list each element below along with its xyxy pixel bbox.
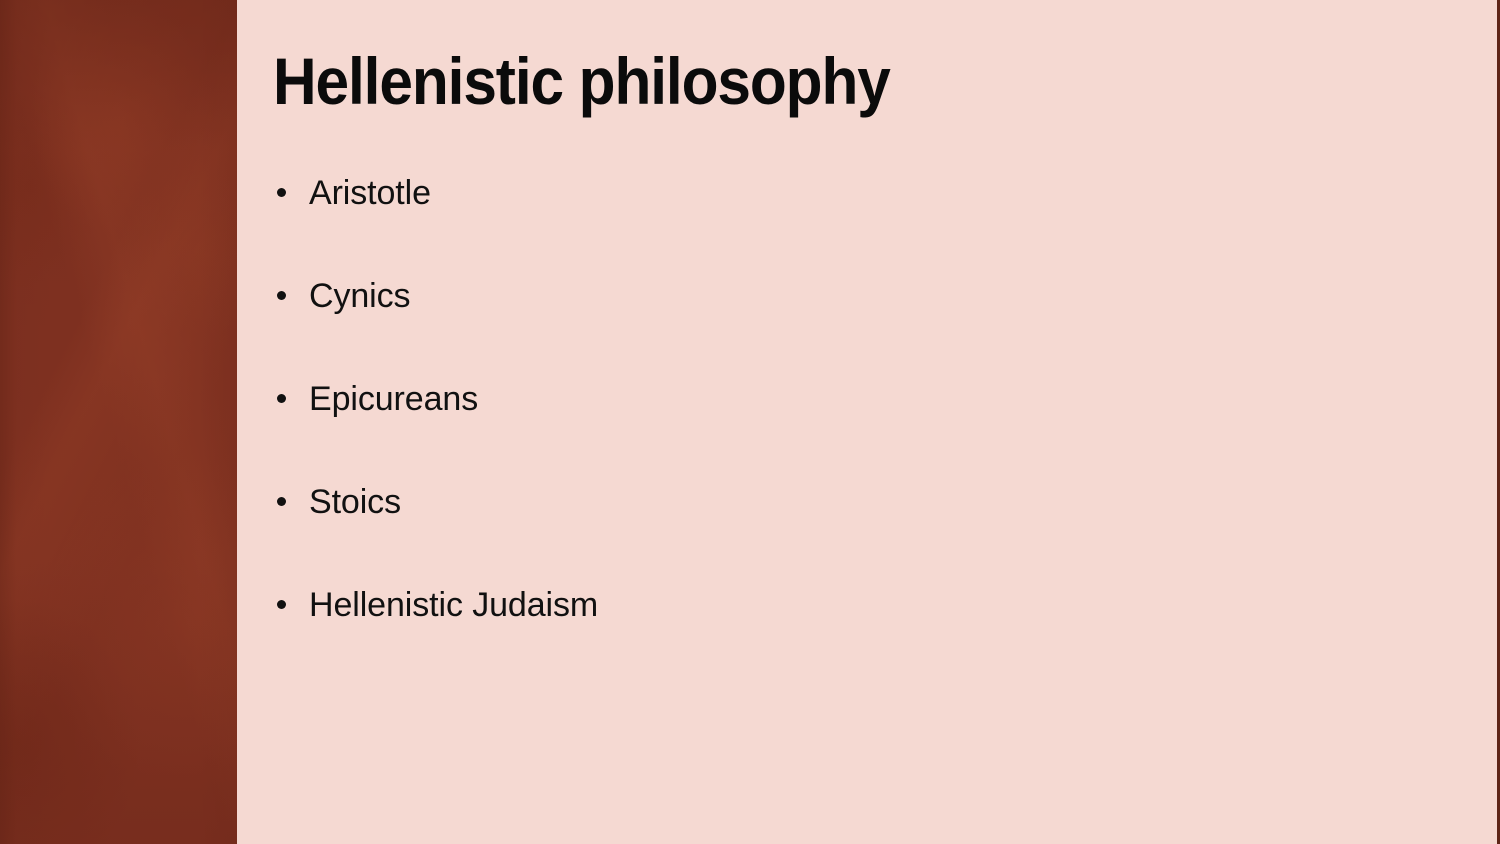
bullet-list: Aristotle Cynics Epicureans Stoics Helle… (273, 170, 1393, 685)
band-vignette-overlay (0, 0, 237, 844)
presentation-slide: Hellenistic philosophy Aristotle Cynics … (0, 0, 1500, 844)
list-item: Epicureans (273, 376, 1393, 479)
bullet-dot-icon (277, 600, 286, 609)
list-item: Stoics (273, 479, 1393, 582)
list-item-label: Stoics (309, 483, 401, 521)
list-item-label: Hellenistic Judaism (309, 586, 598, 624)
bullet-dot-icon (277, 497, 286, 506)
list-item-label: Aristotle (309, 174, 431, 212)
bullet-dot-icon (277, 188, 286, 197)
list-item-label: Epicureans (309, 380, 478, 418)
side-image-band (0, 0, 237, 844)
list-item: Aristotle (273, 170, 1393, 273)
list-item: Hellenistic Judaism (273, 582, 1393, 685)
bullet-dot-icon (277, 394, 286, 403)
bullet-dot-icon (277, 291, 286, 300)
slide-content: Hellenistic philosophy Aristotle Cynics … (237, 0, 1497, 844)
list-item-label: Cynics (309, 277, 410, 315)
list-item: Cynics (273, 273, 1393, 376)
page-title: Hellenistic philosophy (273, 48, 1261, 114)
